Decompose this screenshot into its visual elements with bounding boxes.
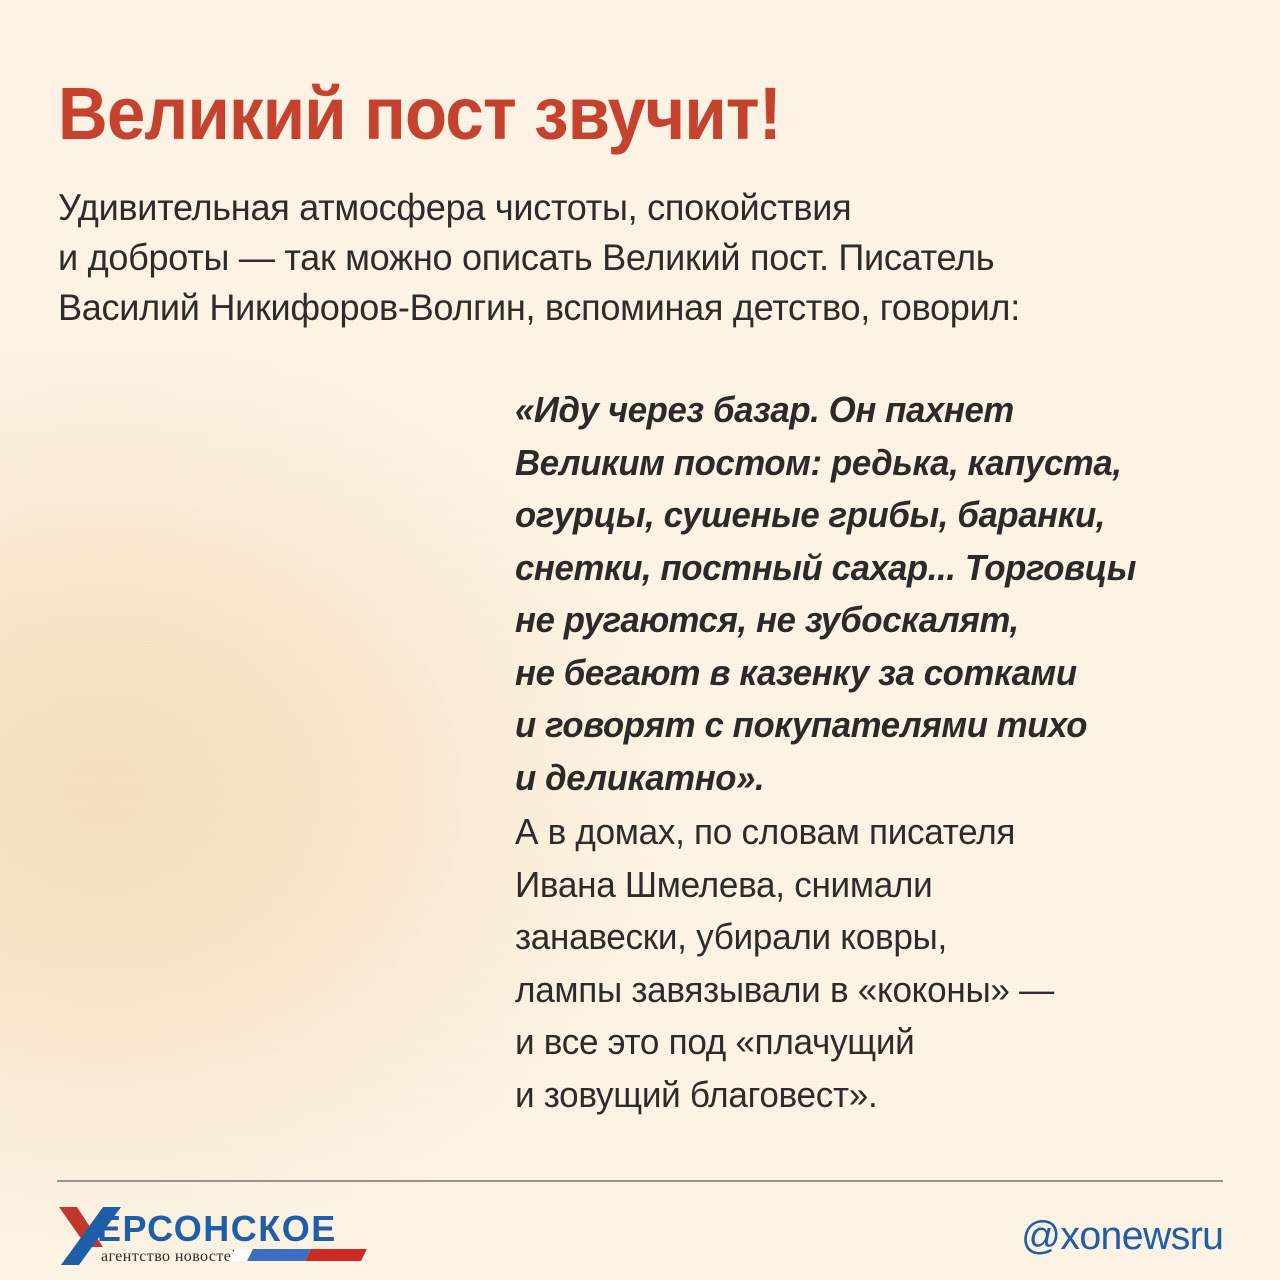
intro-paragraph: Удивительная атмосфера чистоты, спокойст…	[58, 183, 1194, 333]
poster-card: Великий пост звучит! Удивительная атмосф…	[0, 0, 1280, 1280]
quote-line: Великим постом: редька, капуста,	[515, 437, 1210, 490]
quote-line: «Иду через базар. Он пахнет	[515, 384, 1210, 437]
intro-line: и доброты — так можно описать Великий по…	[58, 233, 1194, 283]
brand-logo[interactable]: ЕРСОНСКОЕ агентство новостей	[57, 1203, 367, 1269]
logo-wordmark: ЕРСОНСКОЕ	[97, 1208, 337, 1249]
closing-line: А в домах, по словам писателя	[515, 806, 1217, 859]
closing-line: Ивана Шмелева, снимали	[515, 859, 1217, 912]
closing-line: и все это под «плачущий	[515, 1016, 1217, 1069]
quote-line: и говорят с покупателями тихо	[515, 699, 1210, 752]
footer-divider	[57, 1180, 1223, 1182]
quote-line: не бегают в казенку за сотками	[515, 647, 1210, 700]
closing-line: занавески, убирали ковры,	[515, 911, 1217, 964]
preserves-illustration	[0, 398, 486, 1078]
closing-paragraph: А в домах, по словам писателя Ивана Шмел…	[515, 806, 1217, 1121]
quote-line: не ругаются, не зубоскалят,	[515, 594, 1210, 647]
quote-line: огурцы, сушеные грибы, баранки,	[515, 489, 1210, 542]
page-title: Великий пост звучит!	[58, 77, 781, 151]
quote-line: и деликатно».	[515, 752, 1210, 805]
intro-line: Василий Никифоров-Волгин, вспоминая детс…	[58, 283, 1194, 333]
intro-line: Удивительная атмосфера чистоты, спокойст…	[58, 183, 1194, 233]
quote-line: снетки, постный сахар... Торговцы	[515, 542, 1210, 595]
closing-line: лампы завязывали в «коконы» —	[515, 964, 1217, 1017]
footer: ЕРСОНСКОЕ агентство новостей @xonewsru	[57, 1200, 1223, 1272]
closing-line: и зовущий благовест».	[515, 1069, 1217, 1122]
social-handle[interactable]: @xonewsru	[1021, 1214, 1223, 1259]
logo-tagline: агентство новостей	[101, 1248, 240, 1265]
writer-quote: «Иду через базар. Он пахнет Великим пост…	[515, 384, 1210, 804]
tricolor-stripe	[229, 1249, 367, 1261]
